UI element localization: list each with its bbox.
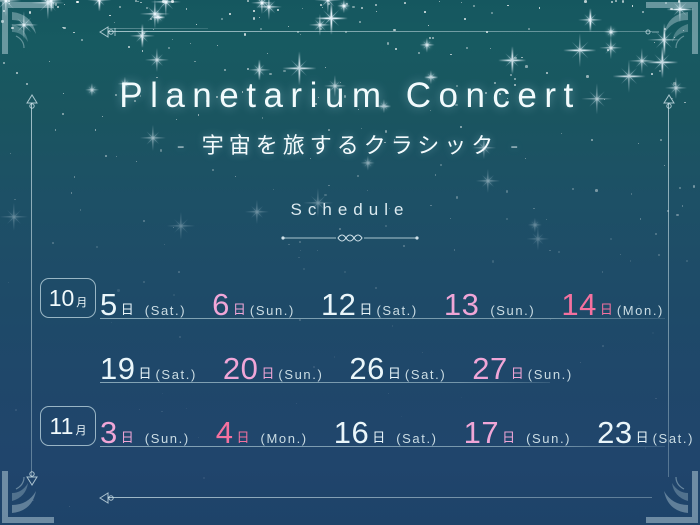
date-group: 3日(Sun.)4日(Mon.)16日(Sat.)17日(Sun.)23日(Sa… <box>100 400 700 464</box>
date-unit: 日 <box>388 363 401 382</box>
star-dot <box>322 7 323 8</box>
date-weekday: (Sun.) <box>526 431 571 446</box>
star-dot <box>253 10 255 12</box>
star-dot <box>610 238 612 240</box>
star-sparkle <box>499 47 527 75</box>
star-dot <box>440 164 442 166</box>
star-dot <box>76 1 78 3</box>
star-dot <box>140 2 142 4</box>
star-dot <box>298 257 299 258</box>
star-dot <box>273 189 274 190</box>
star-dot <box>424 11 426 13</box>
poster-canvas: Planetarium Concert - 宇宙を旅するクラシック - Sche… <box>0 0 700 525</box>
star-dot <box>217 45 218 46</box>
schedule-date[interactable]: 3日(Sun.) <box>100 417 190 448</box>
frame-rod-bottom <box>100 494 660 501</box>
star-sparkle <box>145 48 169 72</box>
star-dot <box>435 174 437 176</box>
star-dot <box>259 17 260 18</box>
swirl-divider-icon <box>280 230 420 246</box>
schedule-table: 10月5日(Sat.)6日(Sun.)12日(Sat.)13(Sun.)14日(… <box>0 272 700 464</box>
date-weekday: (Sun.) <box>490 303 535 318</box>
month-number: 10 <box>49 287 75 310</box>
star-dot <box>162 0 165 3</box>
star-dot <box>607 49 609 51</box>
date-unit: 日 <box>237 427 250 446</box>
corner-ornament-bottom-left <box>2 459 66 523</box>
month-badge: 11月 <box>40 406 96 446</box>
star-dot <box>352 6 355 9</box>
star-sparkle <box>337 0 351 13</box>
poster-subtitle: - 宇宙を旅するクラシック - <box>0 128 700 160</box>
star-dot <box>235 176 236 177</box>
star-dot <box>359 21 361 23</box>
star-dot <box>473 5 475 7</box>
month-unit: 月 <box>75 422 86 438</box>
star-dot <box>328 3 330 5</box>
star-dot <box>212 169 214 171</box>
date-unit: 日 <box>121 299 134 318</box>
star-sparkle <box>599 36 623 60</box>
star-dot <box>429 37 431 39</box>
date-group: 19日(Sat.)20日(Sun.)26日(Sat.)27日(Sun.) <box>100 336 700 400</box>
star-dot <box>135 0 137 2</box>
schedule-date[interactable]: 27日(Sun.) <box>472 353 573 384</box>
date-number: 23 <box>597 417 632 448</box>
star-dot <box>203 477 205 479</box>
star-dot <box>432 37 434 39</box>
star-dot <box>267 53 268 54</box>
star-sparkle <box>88 0 111 12</box>
schedule-date[interactable]: 12日(Sat.) <box>321 289 418 320</box>
schedule-heading: Schedule <box>0 200 700 220</box>
star-sparkle <box>563 34 597 68</box>
date-number: 5 <box>100 289 118 320</box>
star-dot <box>96 246 98 248</box>
star-dot <box>404 2 406 4</box>
star-dot <box>466 47 468 49</box>
star-dot <box>492 260 494 262</box>
row-separator <box>100 382 550 383</box>
star-dot <box>572 188 574 190</box>
star-dot <box>461 2 462 3</box>
star-dot <box>456 196 458 198</box>
star-dot <box>525 65 528 68</box>
month-number: 11 <box>50 415 74 438</box>
schedule-date[interactable]: 13(Sun.) <box>444 289 536 320</box>
star-dot <box>367 190 368 191</box>
star-dot <box>253 17 255 19</box>
star-dot <box>74 176 76 178</box>
star-dot <box>288 26 289 27</box>
star-sparkle <box>527 227 550 250</box>
star-dot <box>150 18 152 20</box>
star-dot <box>584 0 587 3</box>
schedule-date[interactable]: 17日(Sun.) <box>464 417 572 448</box>
date-number: 27 <box>472 353 507 384</box>
star-dot <box>224 69 226 71</box>
schedule-date[interactable]: 14日(Mon.) <box>561 289 664 320</box>
star-sparkle <box>140 0 170 29</box>
date-unit: 日 <box>233 299 246 318</box>
star-dot <box>317 250 318 251</box>
star-dot <box>283 70 286 73</box>
star-dot <box>137 1 139 3</box>
date-unit: 日 <box>372 427 385 446</box>
date-weekday: (Sat.) <box>405 367 446 382</box>
star-dot <box>385 225 387 227</box>
star-dot <box>109 15 111 17</box>
star-dot <box>16 72 18 74</box>
date-unit: 日 <box>261 363 274 382</box>
star-sparkle <box>152 11 165 24</box>
date-unit: 日 <box>121 427 134 446</box>
star-dot <box>620 254 621 255</box>
star-dot <box>418 52 420 54</box>
star-dot <box>300 250 302 252</box>
star-dot <box>328 185 329 186</box>
star-dot <box>490 48 491 49</box>
star-dot <box>81 39 83 41</box>
star-dot <box>622 0 625 3</box>
date-unit: 日 <box>502 427 515 446</box>
schedule-date[interactable]: 23日(Sat.) <box>597 417 694 448</box>
date-weekday: (Sat.) <box>396 431 437 446</box>
star-dot <box>247 0 249 2</box>
date-number: 20 <box>223 353 258 384</box>
star-dot <box>186 8 188 10</box>
poster-title: Planetarium Concert <box>0 76 700 116</box>
star-dot <box>196 24 197 25</box>
schedule-date[interactable]: 19日(Sat.) <box>100 353 197 384</box>
star-dot <box>114 22 115 23</box>
star-dot <box>277 9 279 11</box>
schedule-row: 10月5日(Sat.)6日(Sun.)12日(Sat.)13(Sun.)14日(… <box>0 272 700 336</box>
star-dot <box>558 251 560 253</box>
star-dot <box>631 193 632 194</box>
star-sparkle <box>420 38 435 53</box>
date-number: 16 <box>334 417 369 448</box>
star-dot <box>357 175 359 177</box>
star-dot <box>655 233 657 235</box>
star-dot <box>142 50 143 51</box>
month-unit: 月 <box>76 294 87 310</box>
star-sparkle <box>528 218 542 232</box>
schedule-row: 11月3日(Sun.)4日(Mon.)16日(Sat.)17日(Sun.)23日… <box>0 400 700 464</box>
date-unit: 日 <box>511 363 524 382</box>
date-unit: 日 <box>138 363 151 382</box>
star-dot <box>539 7 541 9</box>
star-dot <box>324 194 326 196</box>
star-dot <box>194 61 196 63</box>
star-sparkle <box>476 169 500 193</box>
date-number: 19 <box>100 353 135 384</box>
star-dot <box>102 116 103 117</box>
star-dot <box>171 0 174 3</box>
star-dot <box>221 18 223 20</box>
star-dot <box>320 4 322 6</box>
date-weekday: (Sun.) <box>278 367 323 382</box>
star-dot <box>128 46 130 48</box>
star-dot <box>71 192 73 194</box>
star-dot <box>375 4 377 6</box>
star-dot <box>549 250 551 252</box>
star-dot <box>658 254 660 256</box>
star-dot <box>303 268 305 270</box>
date-weekday: (Sun.) <box>250 303 295 318</box>
star-sparkle <box>151 0 181 17</box>
star-dot <box>119 6 121 8</box>
star-sparkle <box>314 0 341 14</box>
star-dot <box>165 2 167 4</box>
date-unit: 日 <box>600 299 613 318</box>
star-dot <box>325 67 327 69</box>
star-dot <box>464 18 466 20</box>
star-dot <box>693 185 696 188</box>
star-dot <box>168 47 170 49</box>
star-dot <box>506 190 509 193</box>
star-dot <box>361 7 363 9</box>
date-weekday: (Sat.) <box>145 303 186 318</box>
star-dot <box>630 260 631 261</box>
date-number: 3 <box>100 417 118 448</box>
star-dot <box>428 25 429 26</box>
star-dot <box>247 68 249 70</box>
star-dot <box>176 119 177 120</box>
star-dot <box>190 43 192 45</box>
star-dot <box>376 11 377 12</box>
schedule-row: 19日(Sat.)20日(Sun.)26日(Sat.)27日(Sun.) <box>0 336 700 400</box>
frame-rod-top <box>100 28 660 35</box>
star-dot <box>679 187 681 189</box>
date-weekday: (Sun.) <box>528 367 573 382</box>
date-group: 5日(Sat.)6日(Sun.)12日(Sat.)13(Sun.)14日(Mon… <box>100 272 700 336</box>
star-dot <box>136 161 137 162</box>
corner-ornament-top-right <box>634 2 698 66</box>
schedule-date[interactable]: 26日(Sat.) <box>349 353 446 384</box>
star-dot <box>262 117 264 119</box>
corner-ornament-top-left <box>2 2 66 66</box>
date-number: 4 <box>216 417 234 448</box>
date-number: 12 <box>321 289 356 320</box>
date-unit: 日 <box>636 427 649 446</box>
schedule-date[interactable]: 5日(Sat.) <box>100 289 186 320</box>
star-dot <box>395 48 398 51</box>
star-dot <box>52 242 54 244</box>
star-dot <box>173 227 174 228</box>
star-sparkle <box>256 0 282 20</box>
month-badge: 10月 <box>40 278 96 318</box>
schedule-date[interactable]: 20日(Sun.) <box>223 353 324 384</box>
star-dot <box>69 506 71 508</box>
star-dot <box>172 39 173 40</box>
date-weekday: (Sat.) <box>156 367 197 382</box>
star-dot <box>346 3 348 5</box>
date-number: 26 <box>349 353 384 384</box>
date-number: 13 <box>444 289 479 320</box>
date-weekday: (Mon.) <box>617 303 664 318</box>
date-weekday: (Sat.) <box>653 431 694 446</box>
date-weekday: (Sun.) <box>145 431 190 446</box>
star-dot <box>269 73 272 76</box>
date-number: 14 <box>561 289 596 320</box>
star-dot <box>164 244 165 245</box>
star-sparkle <box>251 0 273 14</box>
star-dot <box>454 249 456 251</box>
star-dot <box>73 32 75 34</box>
row-separator <box>100 446 665 447</box>
star-dot <box>439 1 440 2</box>
star-dot <box>651 73 653 75</box>
star-dot <box>387 42 390 45</box>
star-dot <box>491 12 493 14</box>
star-dot <box>507 5 508 6</box>
star-dot <box>514 57 517 60</box>
date-unit: 日 <box>359 299 372 318</box>
star-dot <box>546 72 548 74</box>
star-dot <box>302 8 303 9</box>
star-dot <box>229 13 231 15</box>
row-separator <box>100 318 665 319</box>
star-dot <box>659 70 661 72</box>
schedule-date[interactable]: 16日(Sat.) <box>334 417 438 448</box>
star-dot <box>615 0 617 2</box>
star-dot <box>521 57 523 59</box>
star-dot <box>686 260 688 262</box>
date-number: 17 <box>464 417 499 448</box>
date-weekday: (Sat.) <box>376 303 417 318</box>
schedule-date[interactable]: 6日(Sun.) <box>212 289 295 320</box>
star-dot <box>595 189 598 192</box>
star-dot <box>611 1 613 3</box>
star-dot <box>146 7 148 9</box>
date-weekday: (Mon.) <box>261 431 308 446</box>
corner-ornament-bottom-right <box>634 459 698 523</box>
date-number: 6 <box>212 289 230 320</box>
schedule-date[interactable]: 4日(Mon.) <box>216 417 308 448</box>
star-dot <box>450 54 452 56</box>
